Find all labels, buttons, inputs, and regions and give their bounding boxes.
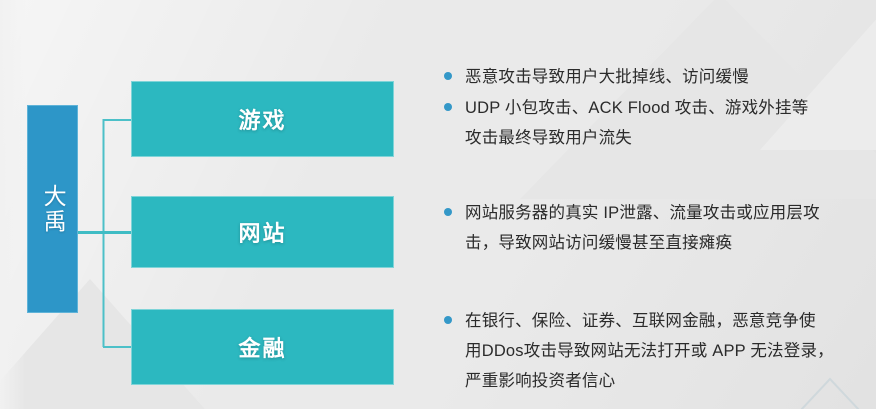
root-node[interactable]: 大禹	[27, 105, 78, 313]
bullet-item: UDP 小包攻击、ACK Flood 攻击、游戏外挂等 攻击最终导致用户流失	[443, 93, 868, 153]
category-box-label: 网站	[238, 216, 286, 248]
bullet-text: 网站服务器的真实 IP泄露、流量攻击或应用层攻 击，导致网站访问缓慢甚至直接瘫痪	[465, 198, 868, 258]
bullet-group-website: 网站服务器的真实 IP泄露、流量攻击或应用层攻 击，导致网站访问缓慢甚至直接瘫痪	[443, 198, 868, 259]
category-box-website[interactable]: 网站	[131, 196, 394, 268]
bullet-item: 网站服务器的真实 IP泄露、流量攻击或应用层攻 击，导致网站访问缓慢甚至直接瘫痪	[443, 198, 868, 258]
bullet-group-finance: 在银行、保险、证券、互联网金融，恶意竞争使 用DDos攻击导致网站无法打开或 A…	[443, 306, 868, 397]
category-box-label: 金融	[238, 331, 286, 363]
bullet-text: 在银行、保险、证券、互联网金融，恶意竞争使 用DDos攻击导致网站无法打开或 A…	[465, 306, 868, 396]
bullet-dot-icon	[444, 103, 452, 111]
bullet-dot-icon	[444, 72, 452, 80]
root-node-label: 大禹	[39, 184, 66, 234]
background-left-light-band	[0, 0, 26, 409]
bullet-text: UDP 小包攻击、ACK Flood 攻击、游戏外挂等 攻击最终导致用户流失	[465, 93, 868, 153]
category-box-game[interactable]: 游戏	[131, 81, 394, 157]
bullet-dot-icon	[444, 316, 452, 324]
bullet-item: 在银行、保险、证券、互联网金融，恶意竞争使 用DDos攻击导致网站无法打开或 A…	[443, 306, 868, 396]
slide-canvas: 大禹 游戏 网站 金融 恶意攻击导致用户大批掉线、访问缓慢 UDP 小包攻击、A…	[0, 0, 876, 409]
bullet-text: 恶意攻击导致用户大批掉线、访问缓慢	[465, 62, 868, 92]
category-box-label: 游戏	[238, 103, 286, 135]
bullet-group-game: 恶意攻击导致用户大批掉线、访问缓慢 UDP 小包攻击、ACK Flood 攻击、…	[443, 62, 868, 154]
category-box-finance[interactable]: 金融	[131, 309, 394, 385]
bullet-dot-icon	[444, 208, 452, 216]
bullet-item: 恶意攻击导致用户大批掉线、访问缓慢	[443, 62, 868, 92]
